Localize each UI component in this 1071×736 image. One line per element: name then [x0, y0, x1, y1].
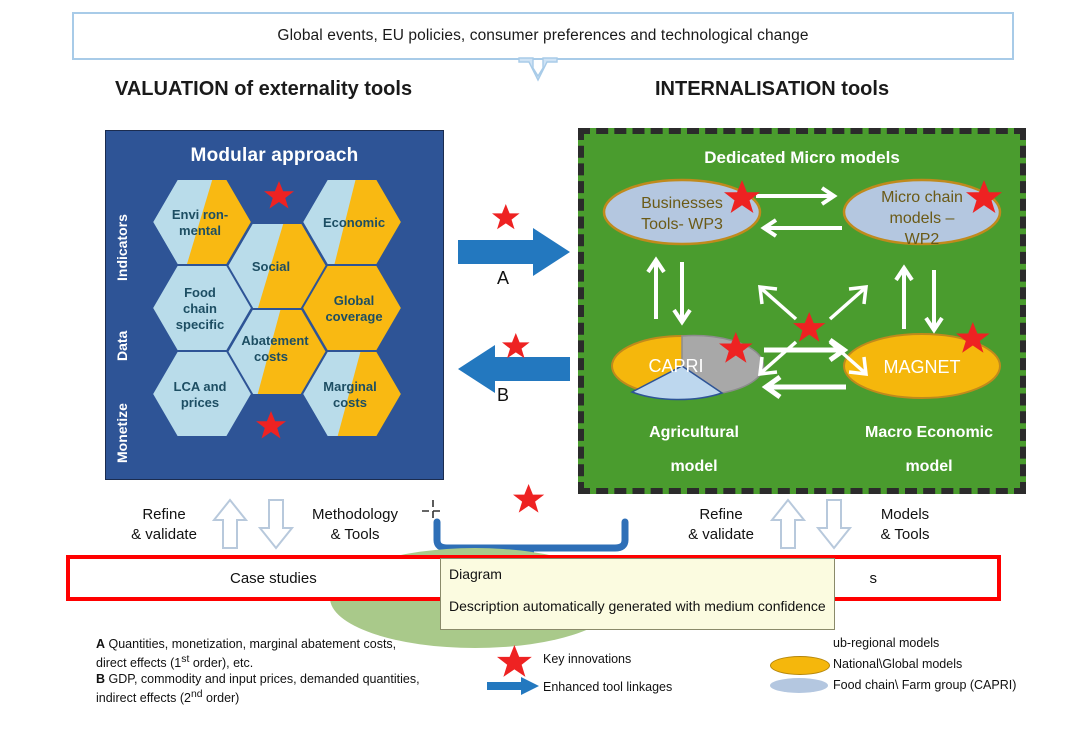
legend-national-global-models-label: National\Global models — [833, 657, 962, 671]
svg-text:Businesses: Businesses — [641, 195, 723, 212]
valuation-panel: Modular approach Indicators Data Monetiz… — [105, 130, 444, 480]
arrow-down-left-icon — [674, 262, 690, 322]
svg-text:specific: specific — [176, 317, 224, 332]
crosshair-icon — [418, 498, 448, 524]
case-studies-label: Case studies — [230, 570, 317, 587]
node-businesses-tools-wp3: Businesses Tools- WP3 — [604, 180, 760, 244]
legend-key-innovations-label: Key innovations — [543, 652, 631, 666]
case-studies-right-label: s — [870, 570, 878, 587]
key-innovation-star-icon — [793, 312, 825, 342]
svg-text:models –: models – — [890, 210, 955, 227]
node-micro-chain-models-wp2: Micro chain models – WP2 — [844, 180, 1000, 248]
svg-text:LCA and: LCA and — [174, 379, 227, 394]
arrow-left-top-icon — [764, 220, 842, 236]
diagram-tooltip: Diagram Description automatically genera… — [440, 558, 835, 630]
footnotes: A Quantities, monetization, marginal aba… — [96, 636, 426, 706]
center-exchange-arrows — [458, 190, 578, 420]
heading-valuation: VALUATION of externality tools — [115, 78, 412, 101]
key-innovation-star-icon — [492, 204, 520, 229]
legend-food-chain-farm-group-label: Food chain\ Farm group (CAPRI) — [833, 678, 1016, 692]
svg-text:WP2: WP2 — [905, 231, 940, 248]
legend-arrow-icon — [487, 676, 541, 696]
svg-text:Tools- WP3: Tools- WP3 — [641, 216, 723, 233]
footnote-b: B GDP, commodity and input prices, deman… — [96, 671, 426, 706]
svg-text:Economic: Economic — [323, 215, 385, 230]
arrow-b-label: B — [497, 385, 509, 406]
axis-label-monetize: Monetize — [114, 381, 130, 463]
label-right-refine-validate: Refine& validate — [675, 505, 767, 545]
svg-text:chain: chain — [183, 301, 217, 316]
legend-enhanced-tool-linkages-label: Enhanced tool linkages — [543, 680, 672, 694]
key-innovation-star-icon — [256, 411, 286, 439]
arrow-left-bottom-icon — [766, 377, 846, 397]
svg-text:costs: costs — [333, 395, 367, 410]
down-arrow-icon — [515, 56, 561, 82]
down-arrow-left-icon — [258, 498, 294, 550]
key-innovation-star-icon — [513, 484, 544, 513]
svg-text:Global: Global — [334, 293, 374, 308]
legend-food-chain-swatch — [770, 678, 828, 693]
svg-text:CAPRI: CAPRI — [648, 356, 703, 376]
up-arrow-right-icon — [770, 498, 806, 550]
svg-text:coverage: coverage — [325, 309, 382, 324]
caption-macro-economic-model: Macro Economic model — [834, 416, 1024, 484]
global-drivers-banner: Global events, EU policies, consumer pre… — [72, 12, 1014, 60]
label-left-refine-validate: Refine& validate — [118, 505, 210, 545]
label-right-models-tools: Models& Tools — [860, 505, 950, 545]
axis-label-data: Data — [114, 299, 130, 361]
key-innovation-star-icon — [502, 333, 530, 358]
arrow-a-icon — [458, 228, 570, 276]
svg-text:Social: Social — [252, 259, 290, 274]
legend-national-global-swatch — [770, 656, 830, 675]
arrow-a-label: A — [497, 268, 509, 289]
legend-sub-regional-models-label: ub-regional models — [833, 636, 939, 650]
axis-label-indicators: Indicators — [114, 189, 130, 281]
svg-text:Food: Food — [184, 285, 216, 300]
svg-text:Envi ron-: Envi ron- — [172, 207, 228, 222]
heading-internalisation: INTERNALISATION tools — [655, 78, 889, 101]
svg-text:MAGNET: MAGNET — [883, 357, 960, 377]
down-arrow-right-icon — [816, 498, 852, 550]
svg-text:prices: prices — [181, 395, 219, 410]
tooltip-description: Description automatically generated with… — [449, 597, 826, 615]
svg-text:costs: costs — [254, 349, 288, 364]
arrow-up-right-icon — [896, 268, 912, 329]
arrow-down-right-icon — [926, 270, 942, 330]
arrow-up-left-icon — [648, 260, 664, 319]
svg-text:mental: mental — [179, 223, 221, 238]
up-arrow-left-icon — [212, 498, 248, 550]
key-innovation-star-icon — [264, 181, 294, 209]
label-left-methodology-tools: Methodology& Tools — [300, 505, 410, 545]
global-drivers-banner-text: Global events, EU policies, consumer pre… — [277, 27, 808, 45]
caption-agricultural-model: Agricultural model — [604, 416, 784, 484]
svg-text:Marginal: Marginal — [323, 379, 376, 394]
arrow-right-top-icon — [756, 188, 834, 204]
svg-text:Abatement: Abatement — [241, 333, 309, 348]
internalisation-panel: Dedicated Micro models Businesses Tools-… — [578, 128, 1026, 494]
footnote-a: A Quantities, monetization, marginal aba… — [96, 636, 426, 671]
modular-approach-title: Modular approach — [106, 145, 443, 167]
svg-text:Micro chain: Micro chain — [881, 189, 963, 206]
arrow-right-bottom-icon — [764, 340, 844, 360]
tooltip-title: Diagram — [449, 565, 826, 583]
modular-hexagon-grid: Envi ron- mental Social Economic Food ch… — [144, 171, 434, 471]
